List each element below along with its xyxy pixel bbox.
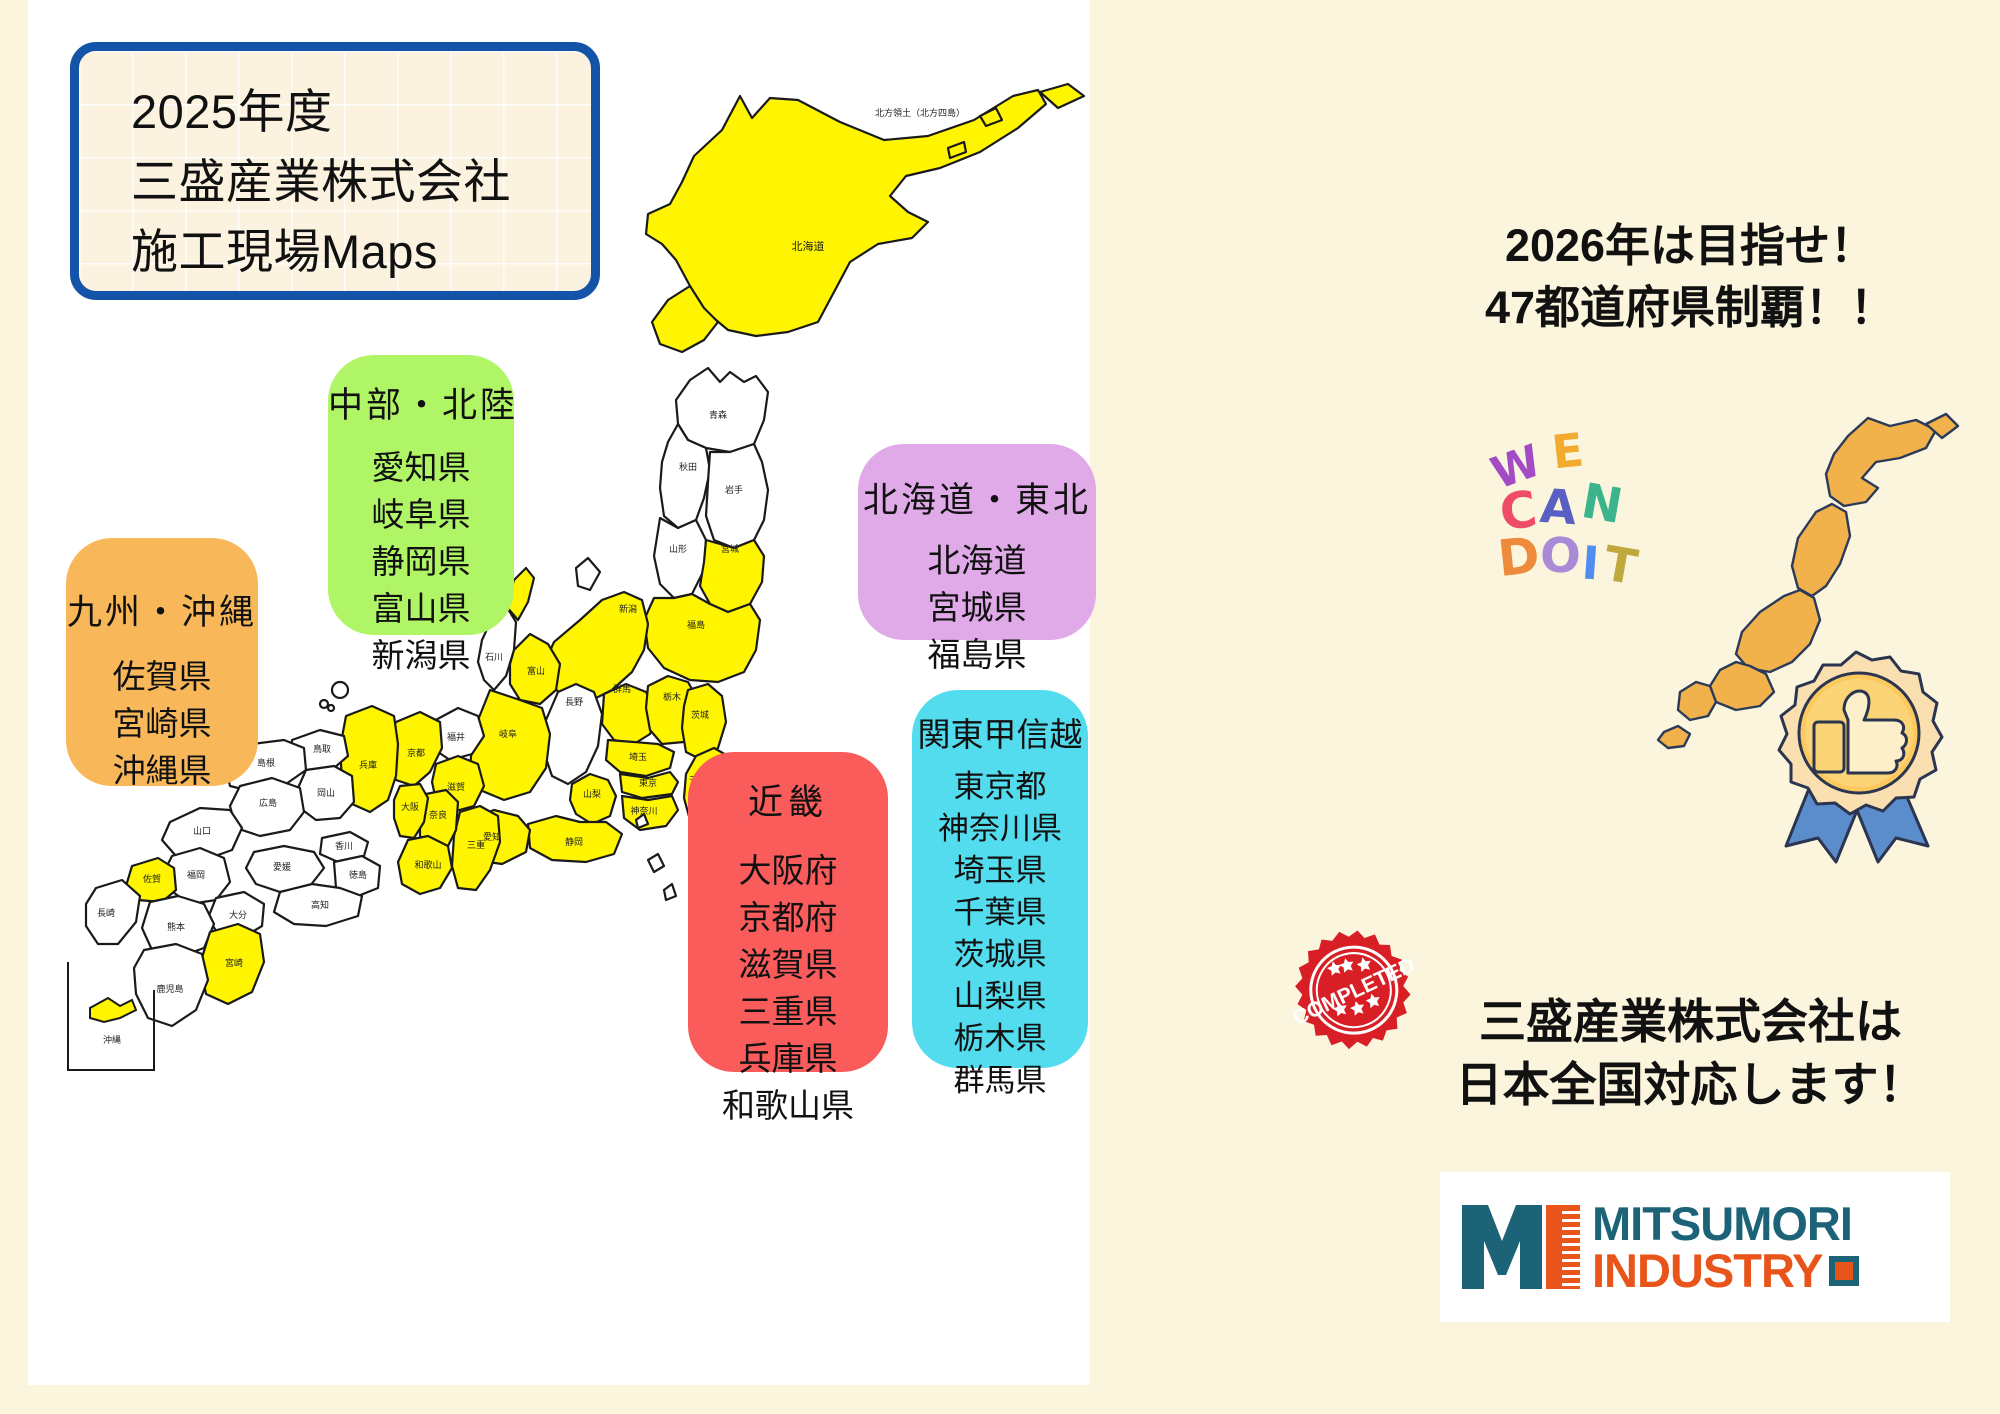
region-box-chubu-hokuriku[interactable]: 中部・北陸 愛知県 岐阜県 静岡県 富山県 新潟県 (328, 355, 514, 635)
region-prefecture-list: 東京都 神奈川県 埼玉県 千葉県 茨城県 山梨県 栃木県 群馬県 (912, 766, 1088, 1102)
svg-text:京都: 京都 (407, 747, 425, 759)
svg-text:熊本: 熊本 (167, 921, 185, 933)
prefecture-item: 宮崎県 (66, 700, 258, 747)
svg-text:広島: 広島 (259, 797, 277, 809)
prefecture-item: 兵庫県 (688, 1035, 888, 1082)
prefecture-item: 福島県 (858, 631, 1096, 678)
prefecture-item: 和歌山県 (688, 1082, 888, 1129)
svg-text:岐阜: 岐阜 (499, 728, 517, 740)
logo-wordmark: MITSUMORI INDUSTRY (1592, 1200, 1859, 1294)
region-prefecture-list: 大阪府 京都府 滋賀県 三重県 兵庫県 和歌山県 (688, 847, 888, 1129)
region-prefecture-list: 愛知県 岐阜県 静岡県 富山県 新潟県 (328, 444, 514, 679)
svg-text:沖縄: 沖縄 (103, 1034, 121, 1046)
prefecture-item: 山梨県 (912, 976, 1088, 1018)
we-can-do-it-graphic: W E C A N D O I T (1490, 420, 1660, 610)
prefecture-item: 富山県 (328, 585, 514, 632)
logo-line-2: INDUSTRY (1592, 1247, 1823, 1294)
prefecture-item: 三重県 (688, 988, 888, 1035)
svg-text:新潟: 新潟 (619, 603, 637, 615)
region-title: 九州・沖縄 (66, 584, 258, 635)
region-box-kyushu-okinawa[interactable]: 九州・沖縄 佐賀県 宮崎県 沖縄県 (66, 538, 258, 786)
prefecture-item: 滋賀県 (688, 941, 888, 988)
svg-text:岡山: 岡山 (317, 788, 335, 799)
svg-text:大阪: 大阪 (401, 801, 419, 813)
prefecture-item: 栃木県 (912, 1018, 1088, 1060)
letter-d: D (1495, 526, 1542, 588)
region-box-kinki[interactable]: 近畿 大阪府 京都府 滋賀県 三重県 兵庫県 和歌山県 (688, 752, 888, 1072)
prefecture-item: 神奈川県 (912, 808, 1088, 850)
svg-text:徳島: 徳島 (349, 869, 367, 881)
svg-text:埼玉: 埼玉 (629, 751, 647, 763)
prefecture-item: 静岡県 (328, 538, 514, 585)
thumbs-up-award-badge-icon (1756, 648, 1956, 868)
region-title: 関東甲信越 (912, 708, 1088, 756)
headline: 2026年は目指せ！ 47都道府県制覇！！ (1440, 215, 1940, 339)
svg-text:鹿児島: 鹿児島 (156, 983, 183, 995)
prefecture-item: 岐阜県 (328, 491, 514, 538)
svg-text:宮崎: 宮崎 (225, 957, 243, 969)
svg-text:青森: 青森 (709, 409, 727, 421)
svg-text:島根: 島根 (257, 757, 275, 769)
svg-text:高知: 高知 (311, 899, 329, 911)
svg-text:北方領土（北方四島）: 北方領土（北方四島） (875, 107, 965, 119)
svg-text:長崎: 長崎 (97, 907, 115, 919)
prefecture-item: 愛知県 (328, 444, 514, 491)
svg-text:和歌山: 和歌山 (414, 859, 441, 871)
prefecture-item: 佐賀県 (66, 653, 258, 700)
svg-text:佐賀: 佐賀 (143, 873, 161, 885)
svg-text:山口: 山口 (193, 826, 211, 837)
svg-text:大分: 大分 (229, 909, 247, 921)
svg-text:兵庫: 兵庫 (359, 759, 377, 771)
svg-text:宮城: 宮城 (721, 543, 739, 555)
region-box-kanto-koshinetsu[interactable]: 関東甲信越 東京都 神奈川県 埼玉県 千葉県 茨城県 山梨県 栃木県 群馬県 (912, 690, 1088, 1068)
svg-text:福岡: 福岡 (187, 869, 205, 881)
svg-text:東京: 東京 (639, 777, 657, 789)
prefecture-item: 千葉県 (912, 892, 1088, 934)
prefecture-item: 東京都 (912, 766, 1088, 808)
svg-text:愛媛: 愛媛 (273, 861, 291, 873)
svg-text:愛知: 愛知 (483, 831, 501, 843)
prefecture-item: 京都府 (688, 894, 888, 941)
svg-text:滋賀: 滋賀 (447, 781, 465, 793)
svg-text:群馬: 群馬 (613, 683, 631, 695)
svg-text:秋田: 秋田 (679, 461, 697, 473)
prefecture-item: 沖縄県 (66, 747, 258, 794)
tagline-line-1: 三盛産業株式会社は (1418, 990, 1963, 1053)
svg-text:福井: 福井 (447, 731, 465, 743)
svg-text:山形: 山形 (669, 543, 687, 555)
prefecture-item: 宮城県 (858, 584, 1096, 631)
letter-i: I (1580, 535, 1601, 590)
mi-logo-mark-icon (1458, 1201, 1580, 1293)
region-box-hokkaido-tohoku[interactable]: 北海道・東北 北海道 宮城県 福島県 (858, 444, 1096, 640)
page-title-line-1: 2025年度 (131, 77, 591, 147)
svg-text:富山: 富山 (527, 665, 545, 677)
logo-line-1: MITSUMORI (1592, 1200, 1859, 1247)
svg-text:静岡: 静岡 (565, 836, 583, 848)
letter-o: O (1539, 527, 1582, 584)
prefecture-item: 新潟県 (328, 632, 514, 679)
completed-stamp-icon: COMPLETED (1274, 914, 1436, 1076)
svg-text:奈良: 奈良 (429, 809, 447, 821)
poster-root: 北海道 青森 秋田 岩手 山形 宮城 新潟 福島 石川 富山 長野 群馬 栃木 … (0, 0, 2000, 1414)
prefecture-item: 群馬県 (912, 1060, 1088, 1102)
svg-text:鳥取: 鳥取 (313, 743, 331, 755)
svg-text:岩手: 岩手 (725, 484, 743, 496)
map-panel: 北海道 青森 秋田 岩手 山形 宮城 新潟 福島 石川 富山 長野 群馬 栃木 … (28, 0, 1090, 1385)
prefecture-item: 大阪府 (688, 847, 888, 894)
svg-text:福島: 福島 (687, 619, 705, 631)
logo-square-icon (1829, 1256, 1859, 1286)
region-title: 中部・北陸 (328, 377, 514, 428)
svg-text:茨城: 茨城 (691, 709, 709, 721)
svg-text:三重: 三重 (467, 839, 485, 851)
page-title-line-3: 施工現場Maps (131, 217, 591, 287)
region-prefecture-list: 北海道 宮城県 福島県 (858, 537, 1096, 678)
svg-text:山梨: 山梨 (583, 788, 601, 800)
prefecture-item: 埼玉県 (912, 850, 1088, 892)
svg-text:長野: 長野 (565, 697, 583, 708)
svg-text:栃木: 栃木 (663, 691, 681, 703)
region-prefecture-list: 佐賀県 宮崎県 沖縄県 (66, 653, 258, 794)
company-logo[interactable]: MITSUMORI INDUSTRY (1440, 1172, 1950, 1322)
region-title: 北海道・東北 (858, 472, 1096, 523)
prefecture-item: 北海道 (858, 537, 1096, 584)
letter-t: T (1599, 536, 1641, 597)
headline-line-2: 47都道府県制覇！！ (1440, 277, 1940, 339)
tagline: 三盛産業株式会社は 日本全国対応します！ (1418, 990, 1963, 1116)
tagline-line-2: 日本全国対応します！ (1418, 1053, 1963, 1116)
region-title: 近畿 (688, 774, 888, 825)
headline-line-1: 2026年は目指せ！ (1440, 215, 1940, 277)
letter-n: N (1577, 473, 1626, 535)
svg-text:神奈川: 神奈川 (630, 805, 657, 817)
page-title-line-2: 三盛産業株式会社 (131, 147, 591, 217)
prefecture-item: 茨城県 (912, 934, 1088, 976)
page-title-box: 2025年度 三盛産業株式会社 施工現場Maps (70, 42, 600, 300)
svg-text:香川: 香川 (335, 841, 353, 852)
svg-text:北海道: 北海道 (792, 239, 825, 253)
letter-e: E (1549, 423, 1586, 480)
